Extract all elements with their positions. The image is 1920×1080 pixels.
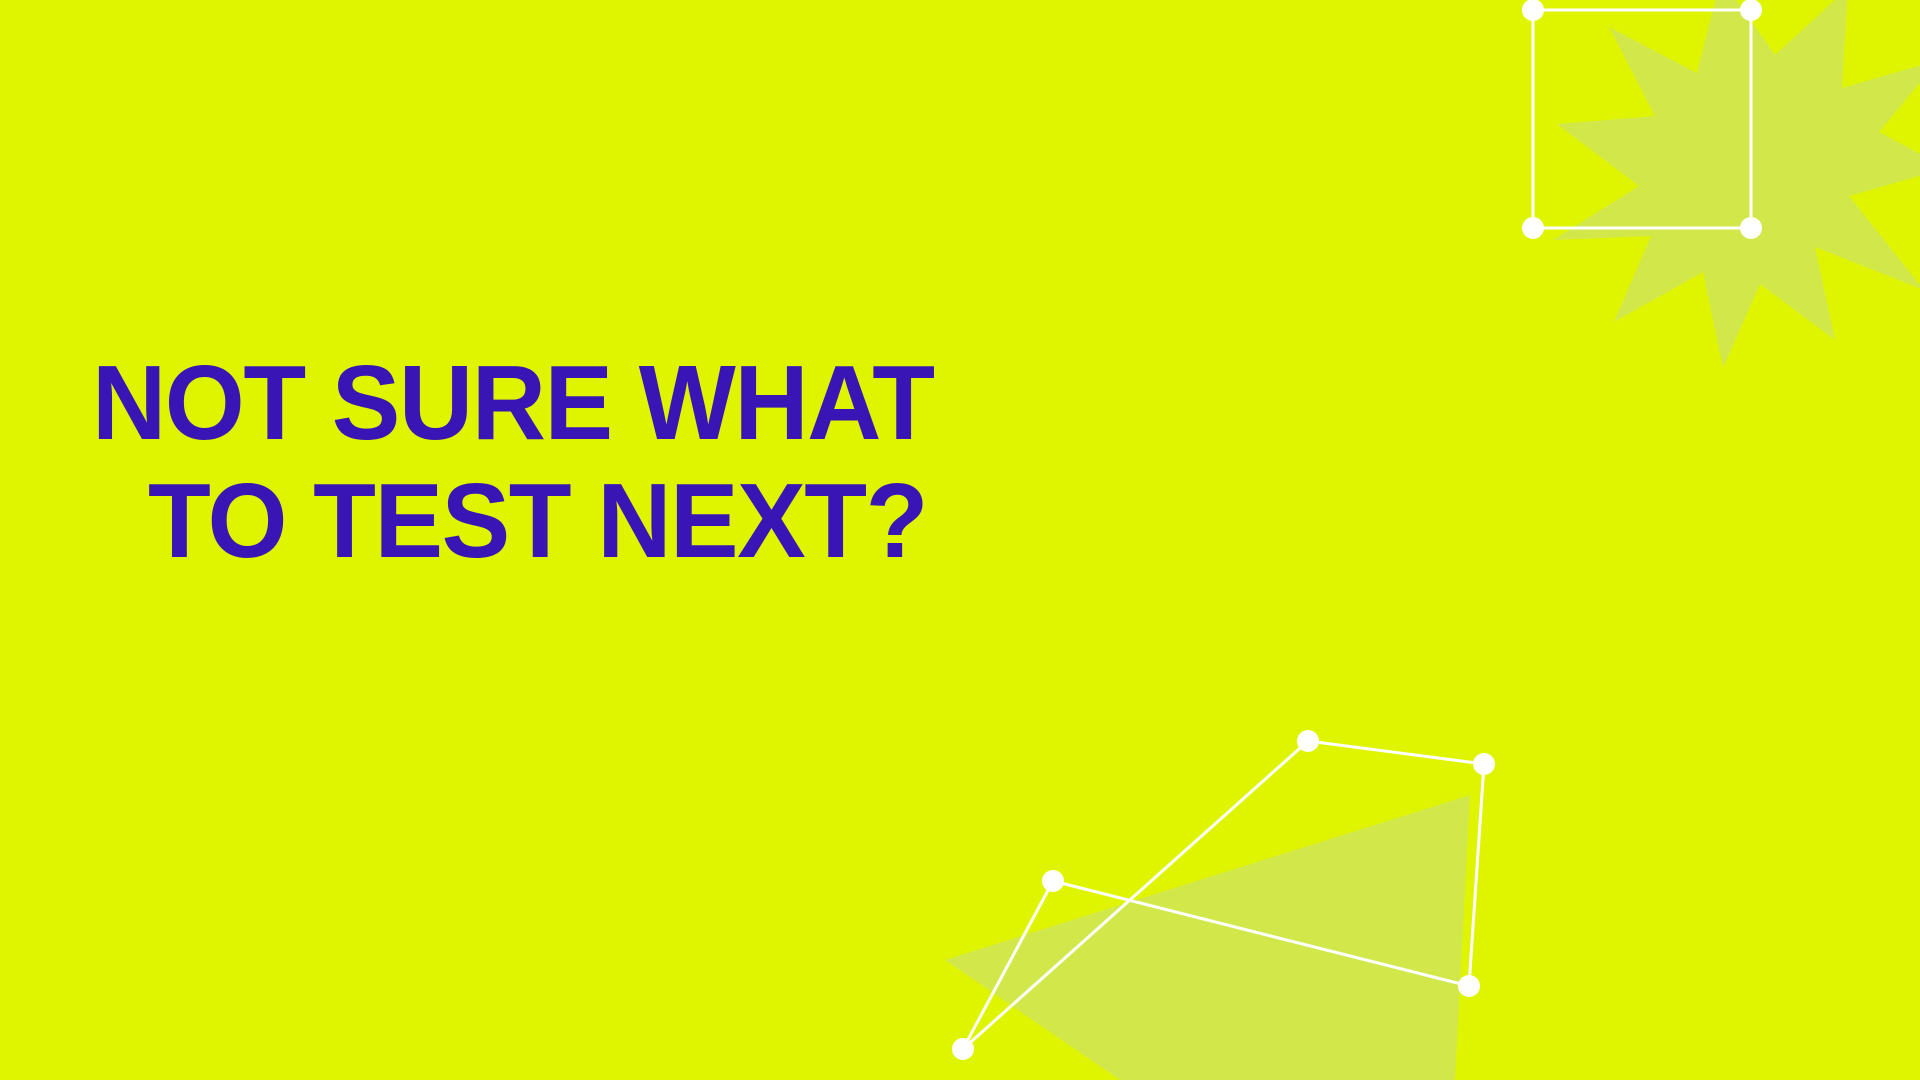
slide-canvas: NOT SURE WHAT TO TEST NEXT? [0,0,1920,1080]
page-title: NOT SURE WHAT TO TEST NEXT? [0,344,1200,580]
headline-line-1: NOT SURE WHAT [92,344,1167,462]
headline-line-2: TO TEST NEXT? [148,462,1168,580]
